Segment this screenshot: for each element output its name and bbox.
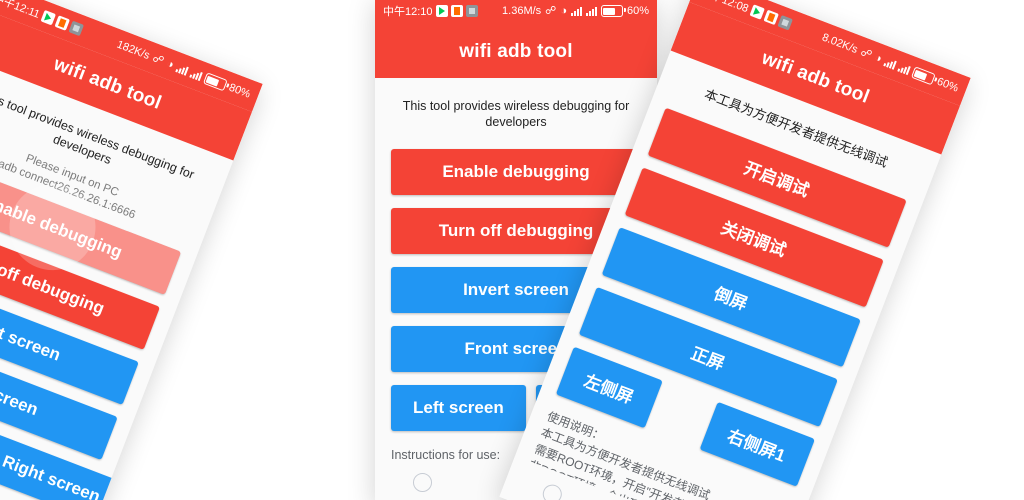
play-store-icon <box>749 4 765 20</box>
signal-icon-2 <box>586 6 597 16</box>
status-battery-percent: 80% <box>227 82 252 101</box>
status-bar-center: 中午12:10 1.36M/s ☍ ◑ 60% <box>375 0 657 26</box>
book-icon <box>54 15 70 31</box>
signal-icon <box>883 56 897 69</box>
status-bar-spacer <box>790 25 822 37</box>
signal-icon <box>175 62 189 75</box>
app-icon <box>466 5 478 17</box>
book-icon <box>451 5 463 17</box>
book-icon <box>763 9 779 25</box>
signal-icon <box>571 6 582 16</box>
wifi-icon: ◑ <box>560 6 567 17</box>
status-bar-spacer <box>82 30 118 44</box>
bluetooth-icon: ☍ <box>545 6 556 17</box>
battery-icon <box>203 72 228 91</box>
signal-icon-2 <box>897 62 911 75</box>
status-netspeed: 8.02K/s <box>820 31 859 56</box>
wifi-icon: ◑ <box>165 58 175 71</box>
battery-icon <box>911 66 936 85</box>
status-battery-percent: 60% <box>935 76 960 95</box>
play-store-icon <box>436 5 448 17</box>
nav-back-circle[interactable] <box>413 473 432 492</box>
status-netspeed: 182K/s <box>115 39 151 62</box>
battery-icon <box>601 5 623 17</box>
play-store-icon <box>40 10 56 26</box>
app-icon <box>68 21 84 37</box>
app-icon <box>777 15 793 31</box>
wifi-icon: ◑ <box>873 52 883 65</box>
nav-back-circle[interactable] <box>540 481 565 500</box>
phone-left: 中午12:11 182K/s ☍ ◑ 80% wifi adb tool Thi… <box>0 0 263 500</box>
status-bar-left-group: 中午12:10 <box>383 3 478 19</box>
app-bar-center: wifi adb tool <box>375 26 657 78</box>
status-time: 中午12:10 <box>383 3 433 19</box>
bluetooth-icon: ☍ <box>859 47 873 61</box>
app-title: wifi adb tool <box>459 41 572 63</box>
left-screen-button[interactable]: Left screen <box>391 385 526 431</box>
status-battery-percent: 60% <box>627 5 649 17</box>
bluetooth-icon: ☍ <box>151 53 165 67</box>
enable-debugging-button[interactable]: Enable debugging <box>391 149 641 195</box>
screenshot-stage: 中午12:11 182K/s ☍ ◑ 80% wifi adb tool Thi… <box>0 0 1024 500</box>
status-bar-right-group: 1.36M/s ☍ ◑ 60% <box>502 5 649 17</box>
subtitle: This tool provides wireless debugging fo… <box>391 98 641 131</box>
status-netspeed: 1.36M/s <box>502 5 541 17</box>
signal-icon-2 <box>189 68 203 81</box>
